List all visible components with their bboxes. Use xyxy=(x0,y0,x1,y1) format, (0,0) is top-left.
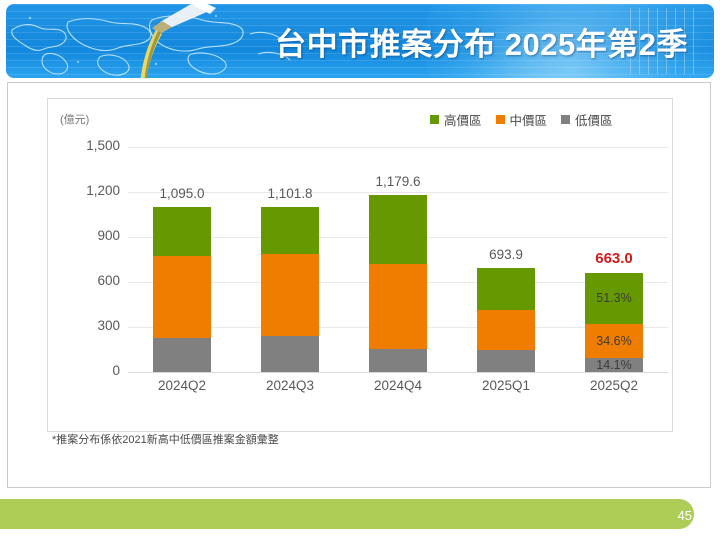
bar-segment-low[interactable] xyxy=(261,336,319,372)
page-title: 台中市推案分布 2025年第2季 xyxy=(6,4,714,78)
bar-column[interactable]: 1,101.8 xyxy=(236,147,344,372)
bar-segment-low[interactable] xyxy=(369,349,427,372)
x-axis-tick-label: 2025Q1 xyxy=(452,378,560,393)
chart-annotation: *推案分布係依2021新高中低價區推案金額彙整 xyxy=(52,431,279,447)
bar-stack[interactable] xyxy=(261,207,319,372)
chart-legend: 高價區 中價區 低價區 xyxy=(430,110,613,129)
bar-segment-mid[interactable] xyxy=(477,310,535,350)
bar-segment-mid[interactable] xyxy=(153,256,211,338)
bar-stack[interactable] xyxy=(369,195,427,372)
bar-segment-high[interactable] xyxy=(153,207,211,256)
bar-total-label: 1,179.6 xyxy=(375,174,420,189)
bar-stack[interactable] xyxy=(477,268,535,372)
page-number: 45 xyxy=(678,508,692,523)
bar-column[interactable]: 693.9 xyxy=(452,147,560,372)
legend-swatch-mid xyxy=(496,115,505,124)
legend-item-high[interactable]: 高價區 xyxy=(430,110,482,129)
bar-segment-mid[interactable] xyxy=(261,254,319,336)
chart-bars: 1,095.01,101.81,179.6693.951.3%34.6%14.1… xyxy=(128,147,668,372)
bar-segment-low[interactable]: 14.1% xyxy=(585,358,643,372)
x-axis-tick-labels: 2024Q22024Q32024Q42025Q12025Q2 xyxy=(128,378,668,393)
legend-item-low[interactable]: 低價區 xyxy=(561,110,613,129)
bar-column[interactable]: 1,179.6 xyxy=(344,147,452,372)
x-axis-line xyxy=(128,372,668,373)
y-axis-tick-label: 900 xyxy=(58,228,120,243)
legend-swatch-high xyxy=(430,115,439,124)
x-axis-tick-label: 2024Q3 xyxy=(236,378,344,393)
y-axis-tick-label: 1,200 xyxy=(58,183,120,198)
y-axis-tick-label: 1,500 xyxy=(58,138,120,153)
x-axis-tick-label: 2025Q2 xyxy=(560,378,668,393)
slide-header-banner: 台中市推案分布 2025年第2季 xyxy=(6,4,714,78)
footer-bar xyxy=(0,499,694,529)
bar-total-label: 1,101.8 xyxy=(267,186,312,201)
bar-segment-high[interactable] xyxy=(261,207,319,255)
legend-label-high: 高價區 xyxy=(444,110,482,129)
bar-column[interactable]: 1,095.0 xyxy=(128,147,236,372)
bar-segment-low[interactable] xyxy=(477,350,535,372)
y-axis-tick-label: 300 xyxy=(58,318,120,333)
legend-label-low: 低價區 xyxy=(575,110,613,129)
bar-column[interactable]: 51.3%34.6%14.1%663.0 xyxy=(560,147,668,372)
y-axis-tick-label: 600 xyxy=(58,273,120,288)
bar-segment-high[interactable] xyxy=(369,195,427,264)
bar-total-label: 1,095.0 xyxy=(159,186,204,201)
legend-item-mid[interactable]: 中價區 xyxy=(496,110,548,129)
bar-segment-high[interactable]: 51.3% xyxy=(585,273,643,324)
bar-stack[interactable] xyxy=(153,207,211,372)
bar-total-label: 663.0 xyxy=(595,250,633,267)
bar-total-label: 693.9 xyxy=(489,247,523,262)
bar-segment-percent-label: 34.6% xyxy=(585,334,643,348)
bar-segment-percent-label: 51.3% xyxy=(585,291,643,305)
x-axis-tick-label: 2024Q4 xyxy=(344,378,452,393)
bar-segment-high[interactable] xyxy=(477,268,535,310)
y-axis-tick-label: 0 xyxy=(58,363,120,378)
legend-swatch-low xyxy=(561,115,570,124)
bar-segment-mid[interactable]: 34.6% xyxy=(585,324,643,358)
bar-stack[interactable]: 51.3%34.6%14.1% xyxy=(585,273,643,372)
legend-label-mid: 中價區 xyxy=(510,110,548,129)
bar-segment-mid[interactable] xyxy=(369,264,427,349)
y-axis-tick-labels: 03006009001,2001,500 xyxy=(58,147,120,372)
bar-segment-percent-label: 14.1% xyxy=(585,358,643,372)
y-axis-unit-label: (億元) xyxy=(60,111,89,127)
x-axis-tick-label: 2024Q2 xyxy=(128,378,236,393)
bar-segment-low[interactable] xyxy=(153,338,211,372)
